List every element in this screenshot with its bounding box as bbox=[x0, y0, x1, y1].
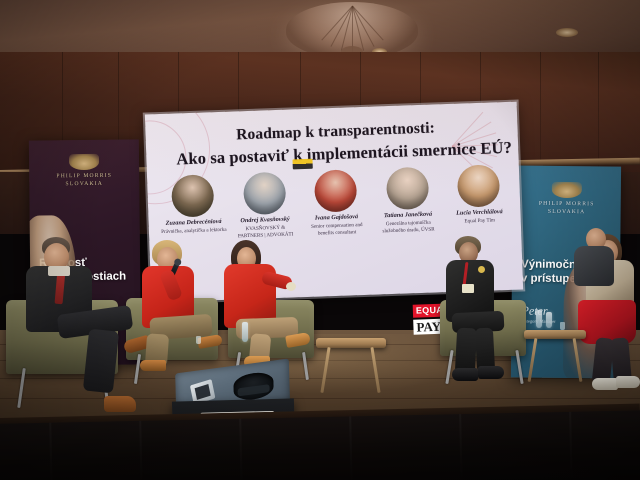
shoe bbox=[616, 376, 640, 388]
slide-panelist-card: Zuzana Debrecéniová Právnička, analytičk… bbox=[159, 174, 227, 236]
slide-title-line2: Ako sa postaviť k implementácii smernice… bbox=[176, 137, 497, 169]
slide-title: Roadmap k transparentnosti: Ako sa posta… bbox=[175, 116, 496, 169]
water-bottle bbox=[242, 322, 248, 342]
torso bbox=[574, 246, 614, 286]
slide-brand-logo-icon bbox=[292, 159, 312, 170]
panelist-role-1: Právnička, analytička a lektorka bbox=[161, 227, 227, 236]
slide-panelist-card: Ivana Gajdošová Senior compensation and … bbox=[302, 169, 370, 237]
side-table bbox=[316, 338, 386, 394]
shoe bbox=[104, 396, 136, 412]
water-bottle bbox=[546, 312, 552, 328]
water-bottle bbox=[536, 310, 542, 328]
banner-left-brand-line2: SLOVAKIA bbox=[29, 180, 139, 189]
panelist-avatar-5 bbox=[457, 164, 500, 207]
slide-panelist-card: Ondrej Kvasňovský KVASŇOVSKÝ & PARTNERS … bbox=[230, 171, 298, 239]
drinking-glass bbox=[196, 336, 201, 344]
shoe bbox=[478, 366, 504, 379]
panelist-avatar-4 bbox=[385, 167, 428, 210]
shoe bbox=[592, 378, 618, 390]
slide-panelist-card: Lucia Verchlálová Equal Pay Tím bbox=[445, 164, 513, 226]
panelist-avatar-2 bbox=[242, 172, 285, 215]
philip-morris-crest-icon bbox=[69, 154, 99, 170]
drinking-glass bbox=[560, 322, 565, 330]
shoe bbox=[140, 360, 166, 371]
panelist-role-4: Generálna tajomníčka služobného úradu, Ú… bbox=[375, 220, 441, 235]
shoe bbox=[452, 368, 478, 381]
brooch-icon bbox=[478, 266, 485, 273]
shirt-collar bbox=[48, 266, 70, 276]
chandelier-icon bbox=[286, 2, 418, 58]
panelist-role-2: KVASŇOVSKÝ & PARTNERS | ADVOKÁTI bbox=[232, 225, 298, 240]
monitor-speaker-port bbox=[233, 371, 274, 402]
slide-panelist-row: Zuzana Debrecéniová Právnička, analytičk… bbox=[159, 164, 513, 242]
panelist-role-5: Equal Pay Tím bbox=[447, 217, 513, 226]
microphone-held bbox=[286, 282, 296, 291]
panelist-role-3: Senior compensation and benefits consult… bbox=[304, 222, 370, 237]
panelist-avatar-3 bbox=[314, 169, 357, 212]
philip-morris-crest-icon bbox=[552, 182, 582, 198]
slide-panelist-card: Tatiana Janečková Generálna tajomníčka s… bbox=[373, 166, 441, 234]
conference-stage-photo: PHILIP MORRIS SLOVAKIA Rovnosť v príleži… bbox=[0, 0, 640, 480]
panelist-avatar-1 bbox=[171, 174, 214, 217]
ceiling-spotlight bbox=[556, 28, 578, 37]
side-table bbox=[524, 330, 586, 382]
name-badge bbox=[462, 284, 474, 293]
banner-right-brand-line2: SLOVAKIA bbox=[513, 208, 621, 217]
